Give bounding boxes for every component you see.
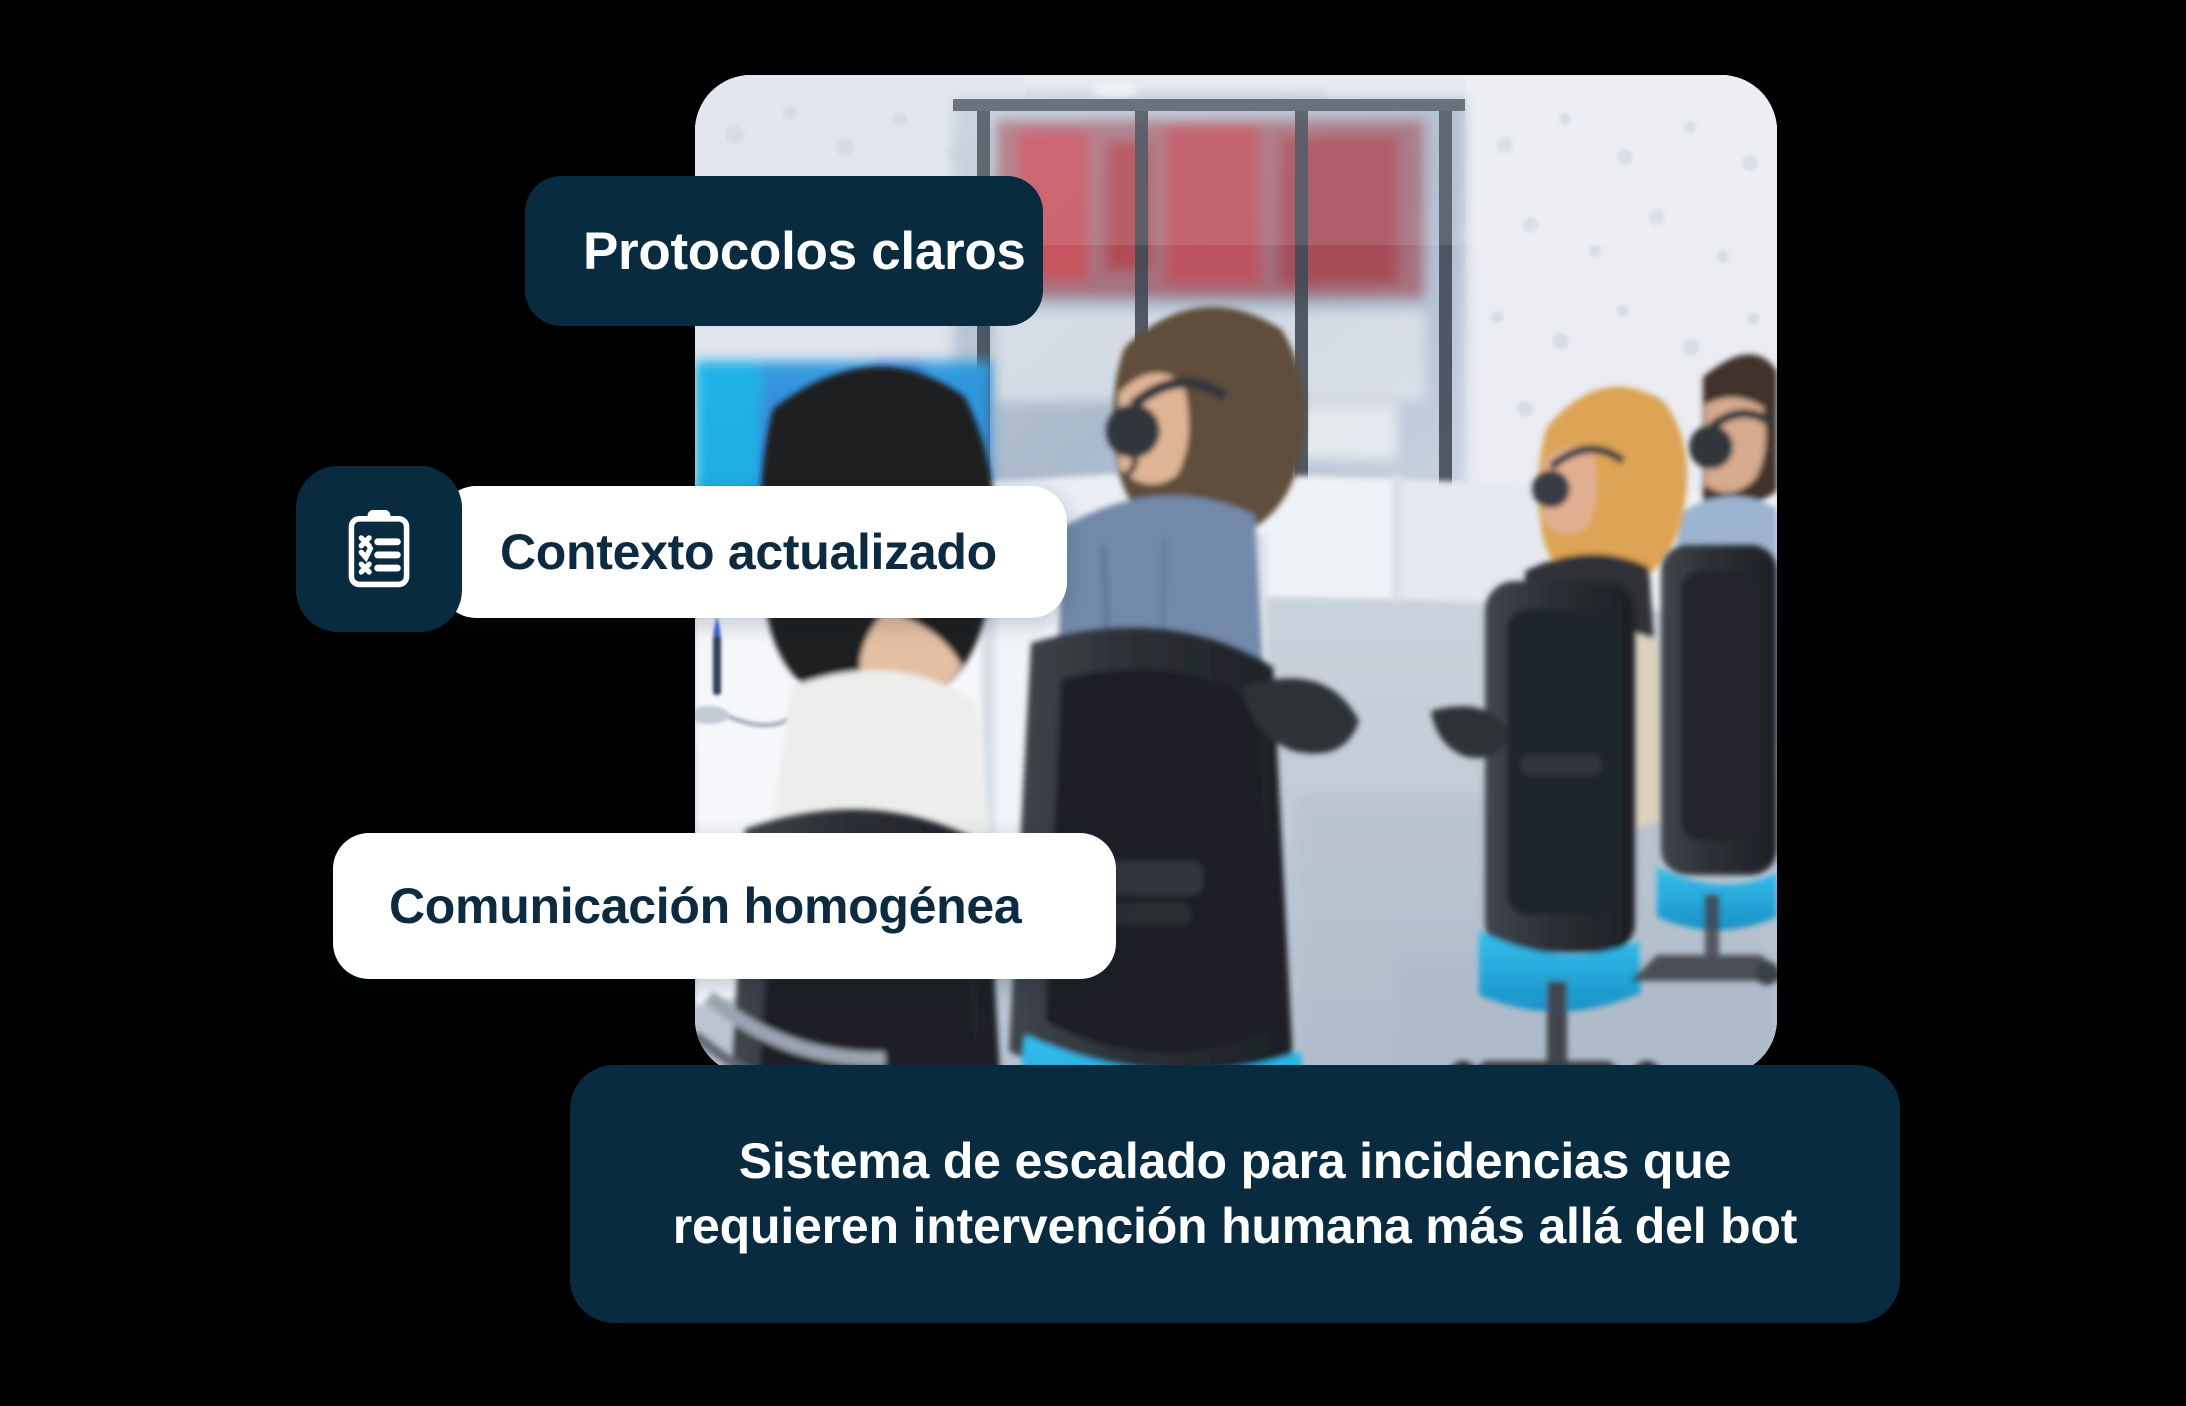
badge-protocolos-claros[interactable]: Protocolos claros xyxy=(525,176,1043,326)
badge-comunicacion-label: Comunicación homogénea xyxy=(389,881,1021,931)
badge-comunicacion-homogenea[interactable]: Comunicación homogénea xyxy=(333,833,1116,979)
clipboard-checklist-icon-tile[interactable] xyxy=(296,466,462,632)
composition-stage: ALMACEN Central xyxy=(0,0,2186,1406)
clipboard-checklist-icon xyxy=(337,507,421,591)
badge-contexto-actualizado[interactable]: Contexto actualizado xyxy=(440,486,1067,618)
escalation-system-text: Sistema de escalado para incidencias que… xyxy=(645,1129,1825,1259)
badge-protocolos-label: Protocolos claros xyxy=(583,225,1026,278)
badge-contexto-label: Contexto actualizado xyxy=(500,527,997,577)
escalation-system-panel[interactable]: Sistema de escalado para incidencias que… xyxy=(570,1065,1900,1323)
